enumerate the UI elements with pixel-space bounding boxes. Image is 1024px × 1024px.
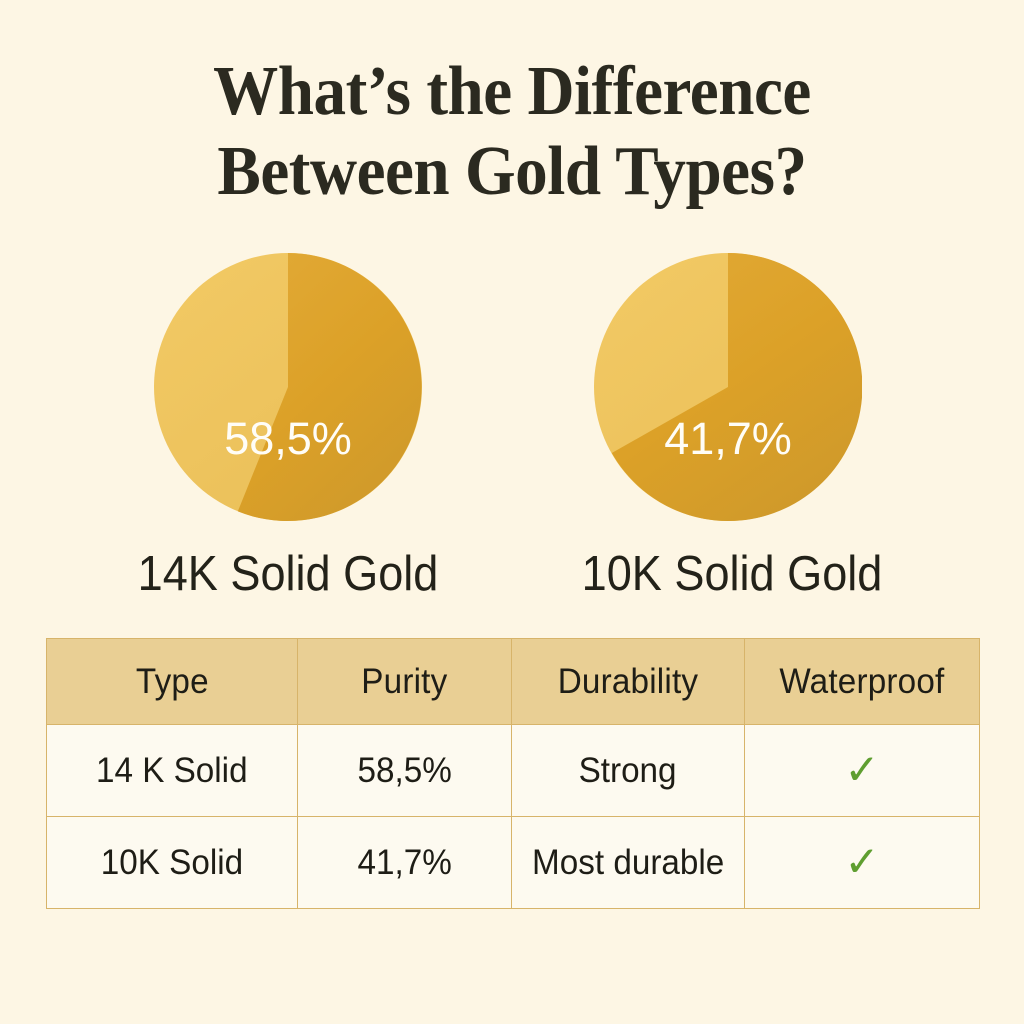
cell-purity-14k: 58,5% [298, 725, 512, 817]
table-row: 14 K Solid 58,5% Strong ✓ [47, 725, 980, 817]
table-header-row: Type Purity Durability Waterproof [47, 639, 980, 725]
pie-caption-10k: 10K Solid Gold [548, 545, 916, 603]
table-row: 10K Solid 41,7% Most durable ✓ [47, 817, 980, 909]
check-mark-icon: ✓ [844, 841, 879, 883]
cell-purity-10k: 41,7% [298, 817, 512, 909]
table-header-purity-label: Purity [361, 662, 447, 702]
table-header-type-label: Type [136, 662, 209, 702]
comparison-table-wrapper: Type Purity Durability Waterproof 14 K S… [46, 638, 979, 909]
pie-charts-row: 58,5% 41,7% [0, 253, 1024, 523]
table-header-type: Type [47, 639, 298, 725]
table-header-waterproof: Waterproof [745, 639, 980, 725]
pie-chart-10k: 41,7% [594, 253, 862, 521]
comparison-table: Type Purity Durability Waterproof 14 K S… [46, 638, 980, 909]
page-title-line-1: What’s the Difference [36, 52, 988, 132]
cell-durability-10k: Most durable [512, 817, 745, 909]
cell-type-14k: 14 K Solid [47, 725, 298, 817]
page-title-line-2: Between Gold Types? [36, 132, 988, 212]
infographic-canvas: What’s the Difference Between Gold Types… [0, 0, 1024, 1024]
cell-durability-10k-label: Most durable [532, 843, 724, 883]
table-header-waterproof-label: Waterproof [779, 662, 944, 702]
cell-waterproof-10k: ✓ [745, 817, 980, 909]
pie-caption-14k: 14K Solid Gold [104, 545, 472, 603]
cell-waterproof-14k: ✓ [745, 725, 980, 817]
pie-captions-row: 14K Solid Gold 10K Solid Gold [0, 545, 1024, 607]
pie-chart-icon [154, 253, 422, 521]
cell-durability-14k-label: Strong [579, 751, 677, 791]
pie-chart-14k: 58,5% [154, 253, 422, 521]
cell-purity-14k-label: 58,5% [357, 751, 451, 791]
table-header-durability: Durability [512, 639, 745, 725]
pie-chart-icon [594, 253, 862, 521]
cell-type-10k-label: 10K Solid [101, 843, 243, 883]
check-mark-icon: ✓ [844, 749, 879, 791]
cell-purity-10k-label: 41,7% [357, 843, 451, 883]
page-title: What’s the Difference Between Gold Types… [0, 52, 1024, 212]
table-header-durability-label: Durability [558, 662, 698, 702]
cell-type-10k: 10K Solid [47, 817, 298, 909]
cell-type-14k-label: 14 K Solid [96, 751, 248, 791]
cell-durability-14k: Strong [512, 725, 745, 817]
table-header-purity: Purity [298, 639, 512, 725]
